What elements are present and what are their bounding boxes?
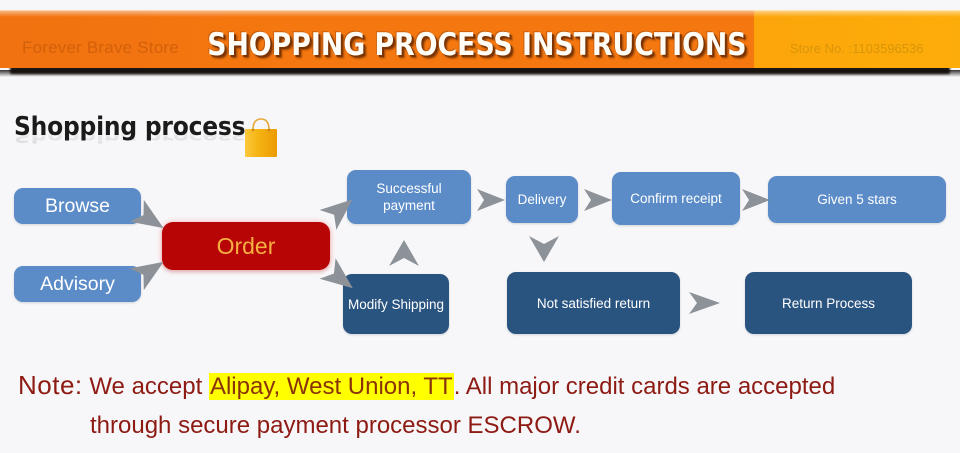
flow-box-return-process[interactable]: Return Process xyxy=(745,272,912,334)
flow-box-not-satisfied-return[interactable]: Not satisfied return xyxy=(507,272,680,334)
arrow-not-satisfied-return-to-return-process-icon xyxy=(686,288,724,318)
note-payment-methods-highlight: Alipay, West Union, TT xyxy=(209,373,454,400)
banner-drop-shadow-fade xyxy=(0,70,960,77)
payment-note: Note: We accept Alipay, West Union, TT. … xyxy=(18,366,948,445)
store-name-watermark: Forever Brave Store xyxy=(22,38,179,58)
note-line1-after: . All major credit cards are accepted xyxy=(454,373,836,400)
banner-background: Forever Brave Store SHOPPING PROCESS INS… xyxy=(0,10,960,68)
flow-box-delivery[interactable]: Delivery xyxy=(506,176,578,223)
section-heading: Shopping process xyxy=(14,112,245,142)
arrow-browse-to-order-icon xyxy=(128,200,174,240)
note-line1-before: We accept xyxy=(89,373,209,400)
arrow-delivery-to-not-satisfied-return-icon xyxy=(526,228,562,272)
arrow-successful-payment-to-delivery-icon xyxy=(474,185,508,215)
page-title: SHOPPING PROCESS INSTRUCTIONS xyxy=(207,28,745,62)
arrow-order-to-modify-shipping-icon xyxy=(318,258,364,300)
flow-box-order[interactable]: Order xyxy=(162,222,330,270)
flow-box-advisory[interactable]: Advisory xyxy=(14,266,141,302)
shopping-bag-icon xyxy=(243,117,279,159)
flow-box-confirm-receipt[interactable]: Confirm receipt xyxy=(612,172,740,225)
note-line2: through secure payment processor ESCROW. xyxy=(90,406,581,445)
flow-box-successful-payment[interactable]: Successful payment xyxy=(347,170,471,224)
header-banner: Forever Brave Store SHOPPING PROCESS INS… xyxy=(0,10,960,72)
arrow-confirm-receipt-to-given-5-stars-icon xyxy=(739,185,773,215)
arrow-delivery-to-confirm-receipt-icon xyxy=(581,185,615,215)
arrow-modify-shipping-to-successful-payment-icon xyxy=(386,230,422,274)
banner-gloss xyxy=(0,10,960,17)
note-label: Note: xyxy=(18,370,83,400)
shopping-process-instructions-page: Forever Brave Store SHOPPING PROCESS INS… xyxy=(0,0,960,453)
arrow-order-to-successful-payment-icon xyxy=(318,188,364,230)
flow-box-browse[interactable]: Browse xyxy=(14,188,141,224)
store-number-label: Store No. :1103596536 xyxy=(790,41,923,56)
arrow-advisory-to-order-icon xyxy=(128,250,174,290)
flow-box-given-5-stars[interactable]: Given 5 stars xyxy=(768,176,946,223)
